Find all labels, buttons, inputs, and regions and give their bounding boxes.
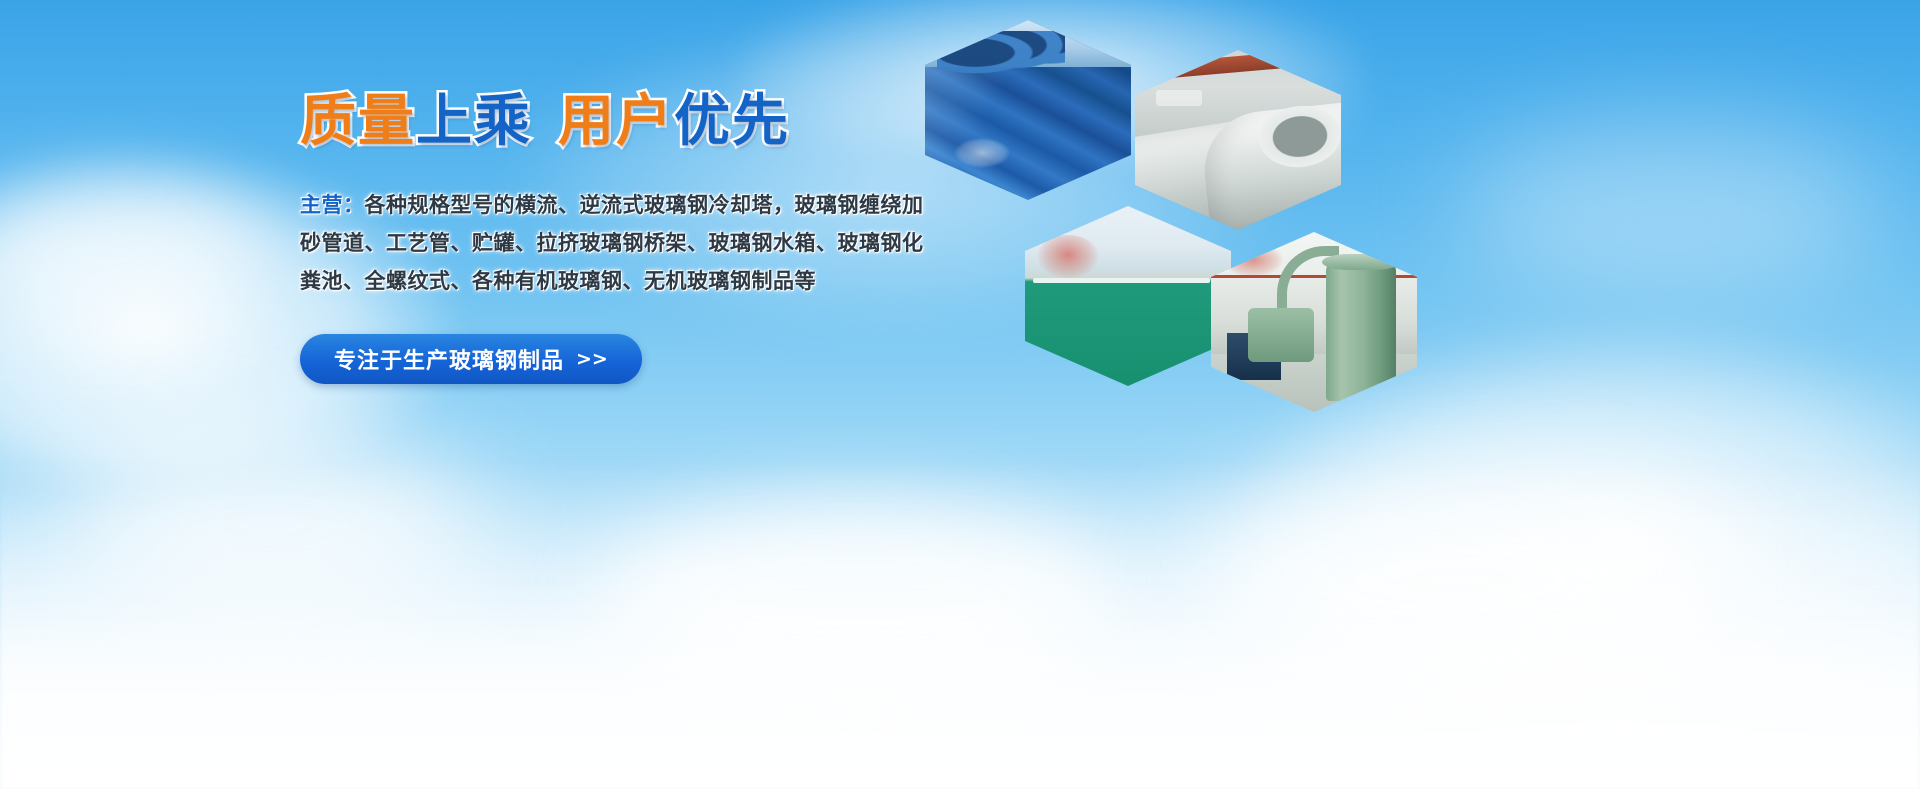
scrubber-tower-cap (1322, 254, 1400, 270)
photo-frp-winding-sand-pipe (1135, 50, 1341, 230)
focus-on-frp-products-button[interactable]: 专注于生产玻璃钢制品 >> (300, 334, 642, 384)
photo-blue-frp-pipes (925, 20, 1131, 200)
description-line-1-rest: 各种规格型号的横流、逆流式玻璃钢冷却塔，玻璃钢缠绕加 (365, 193, 924, 217)
watermark-logo (1223, 243, 1283, 277)
headline-part-2b: 优先 (674, 92, 790, 152)
cloud-bottom-haze (0, 459, 1920, 789)
watermark-logo (1037, 235, 1099, 279)
chevron-right-double-icon: >> (576, 348, 608, 370)
cloud-blob-4 (1460, 120, 1880, 300)
page-title: 质量上乘 用户优先 (300, 92, 920, 152)
cooling-tower-1 (1037, 292, 1119, 382)
description-line-1: 主营：各种规格型号的横流、逆流式玻璃钢冷却塔，玻璃钢缠绕加 (300, 186, 900, 224)
factory-beam (1167, 52, 1287, 79)
description-line-3: 粪池、全螺纹式、各种有机玻璃钢、无机玻璃钢制品等 (300, 262, 900, 300)
collage-hex-winding-sand-pipe[interactable] (1135, 50, 1341, 230)
tower-railing (1033, 278, 1210, 283)
collage-hex-scrubber-tower[interactable] (1211, 232, 1417, 412)
description-lead: 主营： (300, 193, 365, 217)
headline-part-2a: 用户 (558, 92, 674, 152)
headline-spacer (532, 92, 558, 152)
collage-hex-cooling-towers[interactable] (1025, 206, 1231, 386)
banner-description: 主营：各种规格型号的横流、逆流式玻璃钢冷却塔，玻璃钢缠绕加 砂管道、工艺管、贮罐… (300, 186, 900, 300)
watermark-logo (954, 138, 1010, 168)
product-photo-collage (915, 10, 1435, 410)
pipe-end-openings (937, 31, 1065, 85)
hero-banner: 质量上乘 用户优先 主营：各种规格型号的横流、逆流式玻璃钢冷却塔，玻璃钢缠绕加 … (0, 0, 1920, 789)
banner-copy: 质量上乘 用户优先 主营：各种规格型号的横流、逆流式玻璃钢冷却塔，玻璃钢缠绕加 … (300, 92, 920, 384)
headline-part-1b: 上乘 (416, 92, 532, 152)
headline-part-1a: 质量 (300, 92, 416, 152)
description-line-2: 砂管道、工艺管、贮罐、拉挤玻璃钢桥架、玻璃钢水箱、玻璃钢化 (300, 224, 900, 262)
collage-hex-blue-frp-pipes[interactable] (925, 20, 1131, 200)
cooling-tower-2 (1124, 300, 1206, 383)
cta-label: 专注于生产玻璃钢制品 (334, 343, 564, 375)
photo-green-frp-scrubber-tower (1211, 232, 1417, 412)
photo-green-frp-cooling-towers (1025, 206, 1231, 386)
scrubber-tower-body (1326, 261, 1396, 401)
exhaust-duct-secondary (1248, 308, 1314, 362)
watermark-logo (1156, 90, 1202, 106)
